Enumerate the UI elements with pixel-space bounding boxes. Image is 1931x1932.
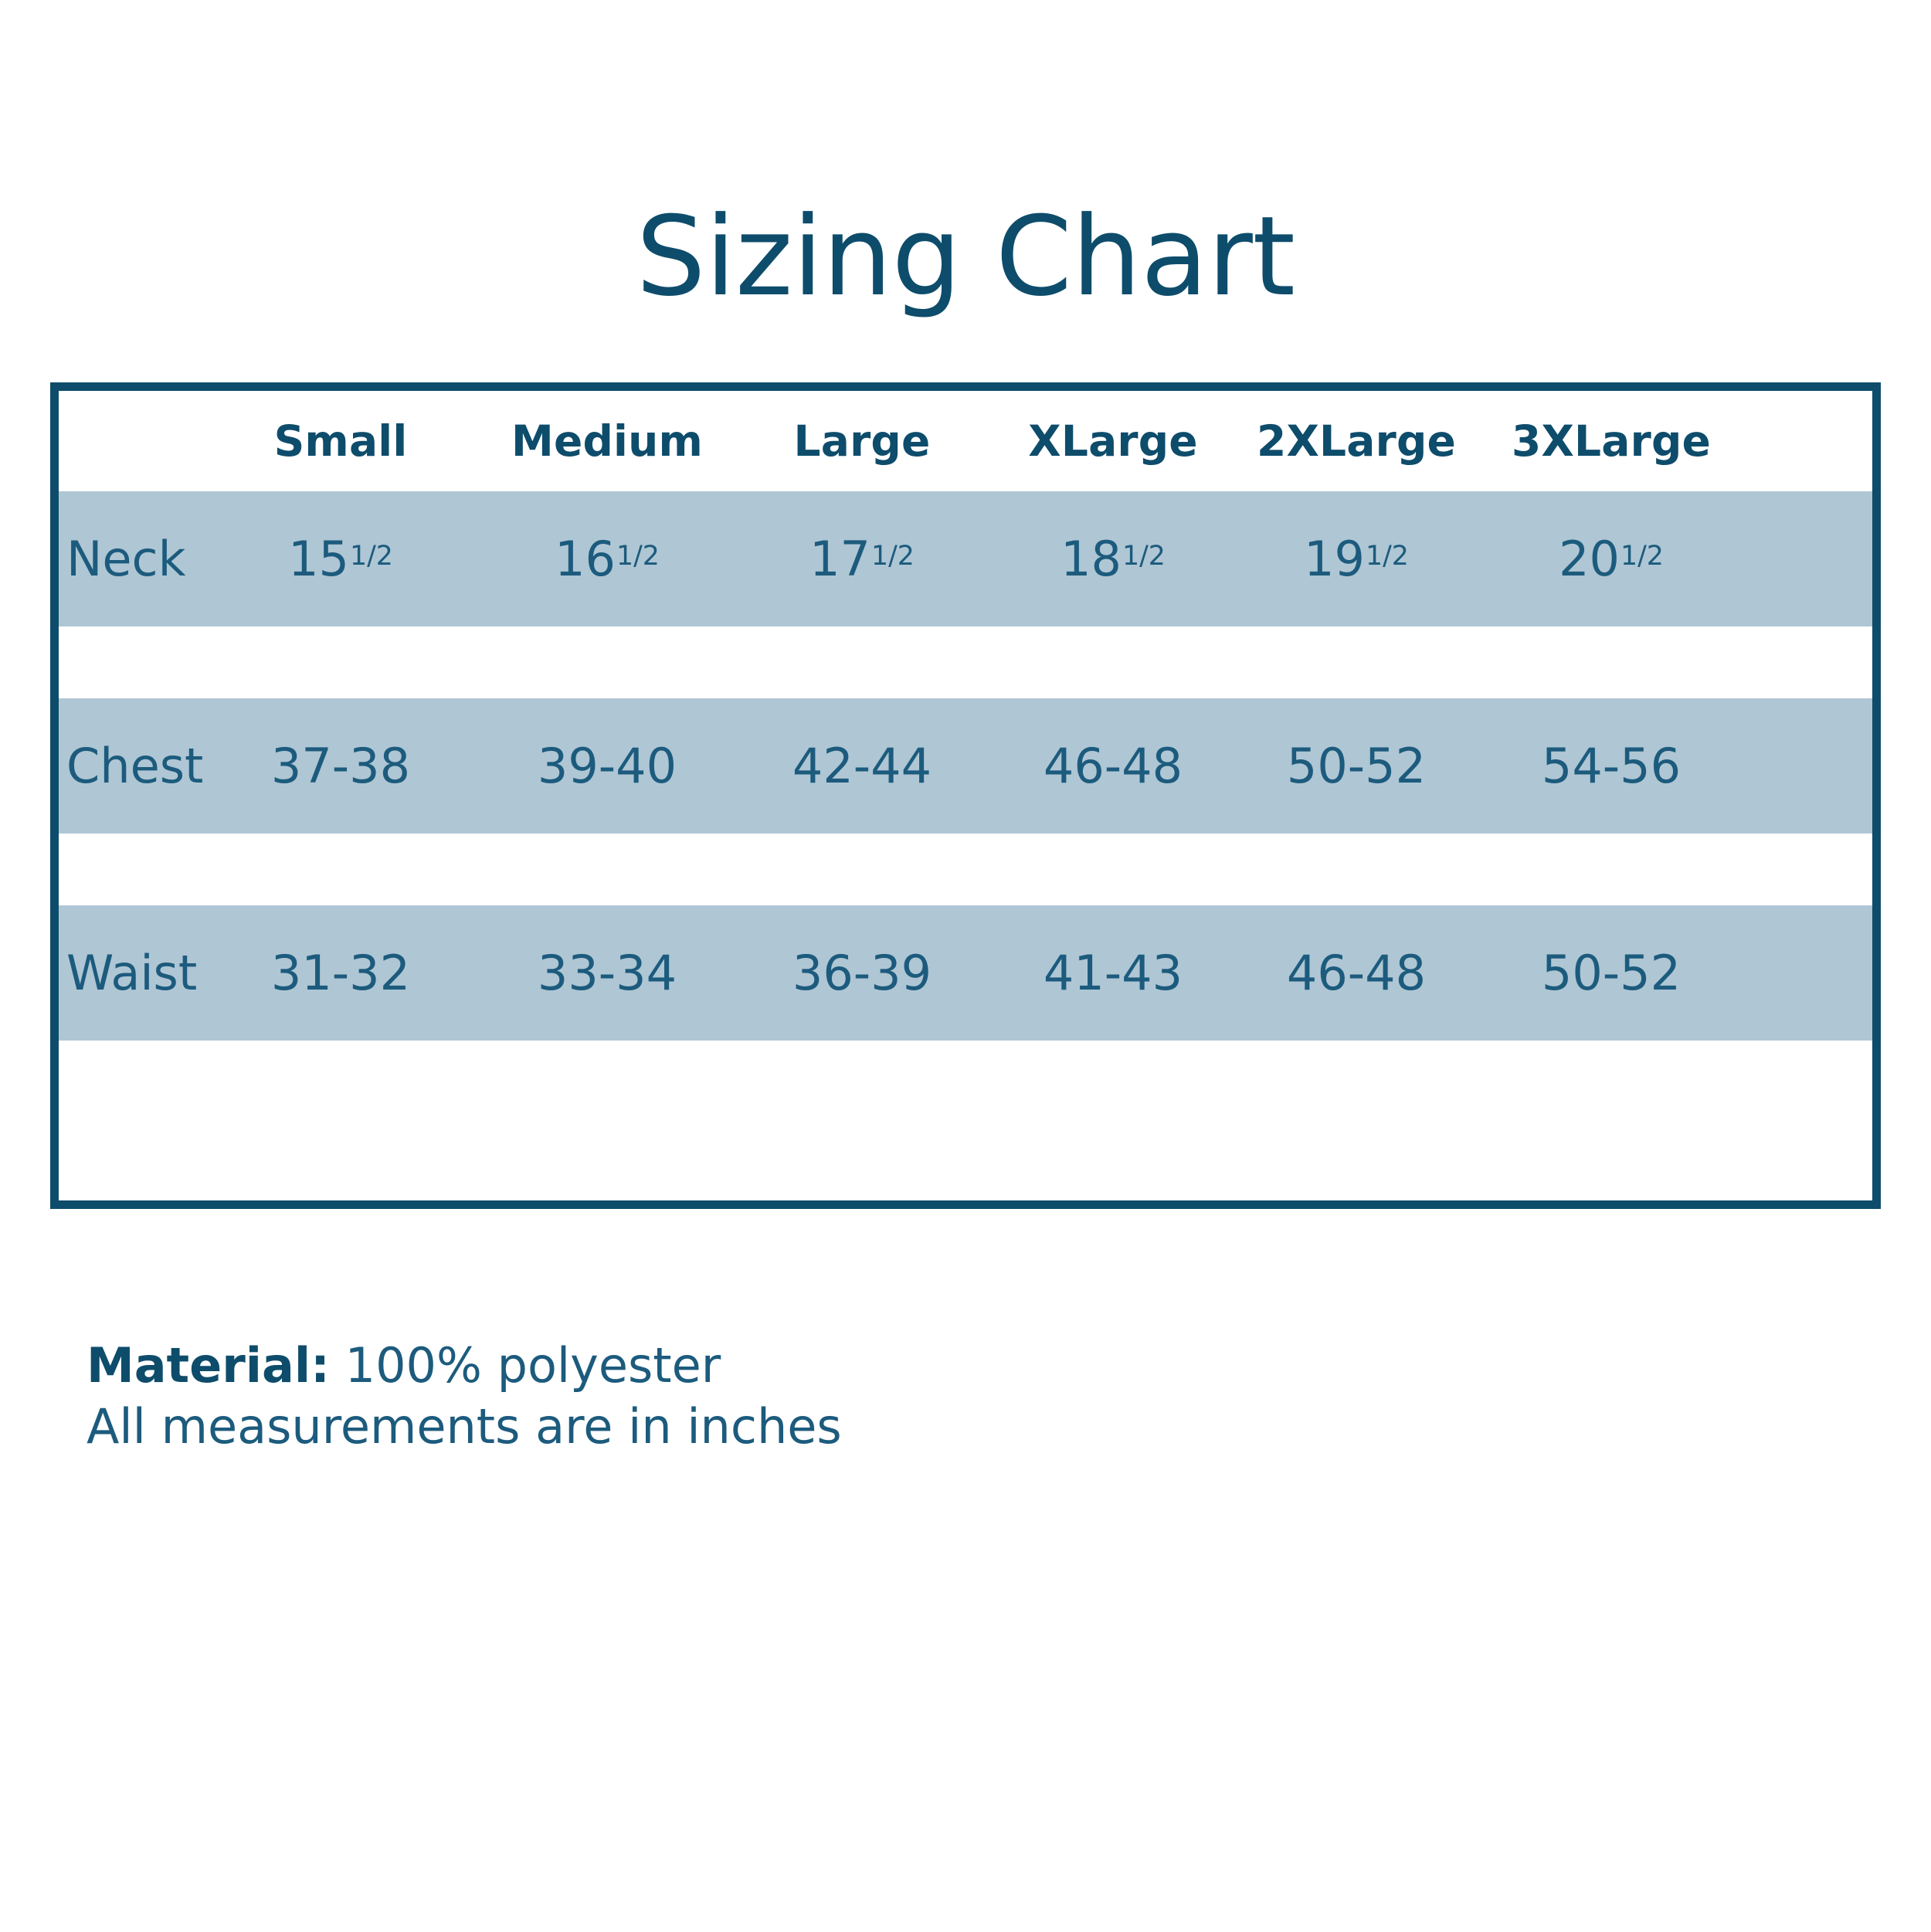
header-large: Large (735, 391, 989, 491)
chest-large: 42-44 (735, 698, 989, 834)
neck-3xlarge-whole: 20 (1559, 531, 1620, 587)
footer-notes: Material: 100% polyester All measurement… (87, 1335, 842, 1458)
table-header-row: Small Medium Large XLarge 2XLarge 3XLarg… (59, 391, 1872, 491)
sizing-chart-page: Sizing Chart Small Medium Large XLarge 2… (0, 0, 1931, 1932)
neck-small-whole: 15 (288, 531, 349, 587)
chest-small: 37-38 (213, 698, 468, 834)
table-row-waist: Waist 31-32 33-34 36-39 41-43 46-48 50-5… (59, 905, 1872, 1041)
neck-large-whole: 17 (809, 531, 870, 587)
neck-xlarge-fraction: 1/2 (1122, 543, 1166, 570)
waist-medium: 33-34 (480, 905, 735, 1041)
chest-medium: 39-40 (480, 698, 735, 834)
neck-medium-fraction: 1/2 (616, 543, 660, 570)
waist-3xlarge: 50-52 (1480, 905, 1743, 1041)
header-small: Small (213, 391, 468, 491)
material-note: Material: 100% polyester (87, 1335, 842, 1396)
neck-medium: 161/2 (480, 491, 735, 626)
neck-small-fraction: 1/2 (350, 543, 393, 570)
material-label: Material: (87, 1337, 330, 1394)
neck-large-fraction: 1/2 (871, 543, 915, 570)
header-2xlarge: 2XLarge (1225, 391, 1488, 491)
header-medium: Medium (480, 391, 735, 491)
neck-medium-whole: 16 (555, 531, 616, 587)
chest-2xlarge: 50-52 (1225, 698, 1488, 834)
chest-xlarge: 46-48 (986, 698, 1240, 834)
sizing-table: Small Medium Large XLarge 2XLarge 3XLarg… (50, 382, 1881, 1209)
neck-large: 171/2 (735, 491, 989, 626)
sizing-table-body: Small Medium Large XLarge 2XLarge 3XLarg… (59, 391, 1872, 1200)
waist-large: 36-39 (735, 905, 989, 1041)
neck-3xlarge: 201/2 (1480, 491, 1743, 626)
neck-xlarge-whole: 18 (1061, 531, 1122, 587)
neck-small: 151/2 (213, 491, 468, 626)
neck-3xlarge-fraction: 1/2 (1620, 543, 1664, 570)
table-spacer-row-2 (59, 834, 1872, 905)
page-title: Sizing Chart (50, 202, 1881, 312)
table-spacer-row-3 (59, 1041, 1872, 1126)
header-xlarge: XLarge (986, 391, 1240, 491)
table-spacer-row-1 (59, 626, 1872, 698)
measurement-note: All measurements are in inches (87, 1396, 842, 1457)
chest-3xlarge: 54-56 (1480, 698, 1743, 834)
header-3xlarge: 3XLarge (1480, 391, 1743, 491)
neck-xlarge: 181/2 (986, 491, 1240, 626)
table-row-neck: Neck 151/2 161/2 171/2 181/2 191/2 201/2 (59, 491, 1872, 626)
neck-2xlarge-fraction: 1/2 (1366, 543, 1409, 570)
table-row-chest: Chest 37-38 39-40 42-44 46-48 50-52 54-5… (59, 698, 1872, 834)
material-value: 100% polyester (345, 1337, 721, 1394)
waist-xlarge: 41-43 (986, 905, 1240, 1041)
waist-2xlarge: 46-48 (1225, 905, 1488, 1041)
neck-2xlarge: 191/2 (1225, 491, 1488, 626)
waist-small: 31-32 (213, 905, 468, 1041)
neck-2xlarge-whole: 19 (1304, 531, 1365, 587)
